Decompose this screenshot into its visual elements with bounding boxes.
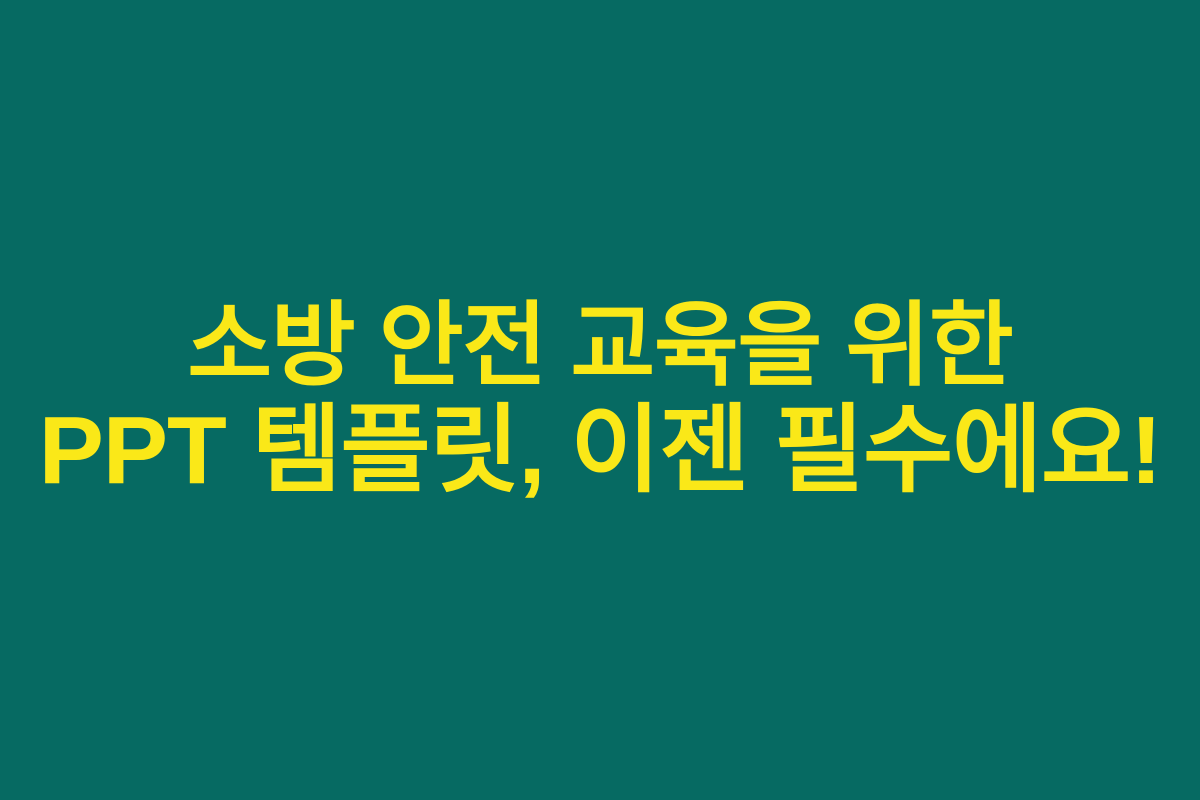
- headline-block: 소방 안전 교육을 위한 PPT 템플릿, 이젠 필수에요!: [0, 299, 1200, 501]
- headline-line-1: 소방 안전 교육을 위한: [20, 299, 1180, 395]
- headline-line-2: PPT 템플릿, 이젠 필수에요!: [8, 401, 1191, 501]
- banner-canvas: 소방 안전 교육을 위한 PPT 템플릿, 이젠 필수에요!: [0, 0, 1200, 800]
